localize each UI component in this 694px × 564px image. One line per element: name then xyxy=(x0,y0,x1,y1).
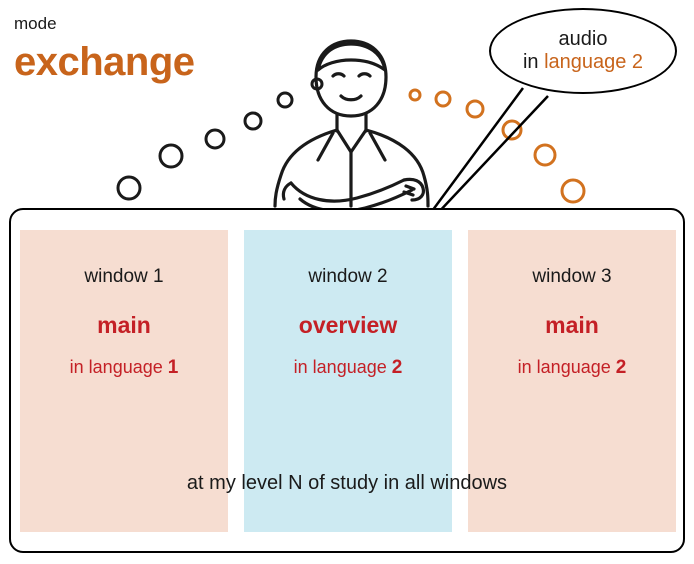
mode-title: exchange xyxy=(14,40,195,85)
window-1-language: in language 1 xyxy=(20,357,228,379)
window-3-title: window 3 xyxy=(468,266,676,288)
window-1-language-number: 1 xyxy=(168,357,179,378)
panel-footer-note: at my level N of study in all windows xyxy=(11,472,683,495)
window-3-kind: main xyxy=(468,312,676,339)
window-3-language-prefix: in language xyxy=(518,357,616,377)
audio-speech-bubble: audio in language 2 xyxy=(489,8,677,94)
bubble-language-prefix: in xyxy=(523,51,544,73)
windows-panel: window 1 main in language 1 window 2 ove… xyxy=(9,208,685,553)
person-illustration xyxy=(275,41,428,211)
mode-label: mode xyxy=(14,14,57,34)
window-2-title: window 2 xyxy=(244,266,452,288)
window-2-language: in language 2 xyxy=(244,357,452,379)
bubble-line-language: in language 2 xyxy=(523,51,643,74)
window-1-kind: main xyxy=(20,312,228,339)
window-2-kind: overview xyxy=(244,312,452,339)
window-3-language-number: 2 xyxy=(616,357,627,378)
window-2-language-prefix: in language xyxy=(294,357,392,377)
window-1-title: window 1 xyxy=(20,266,228,288)
bubble-language-value: language 2 xyxy=(544,51,643,73)
speech-dots-orange xyxy=(410,90,584,202)
window-2-language-number: 2 xyxy=(392,357,403,378)
window-1-language-prefix: in language xyxy=(70,357,168,377)
bubble-line-audio: audio xyxy=(559,28,608,51)
speech-dots-black xyxy=(118,79,322,199)
window-3-language: in language 2 xyxy=(468,357,676,379)
